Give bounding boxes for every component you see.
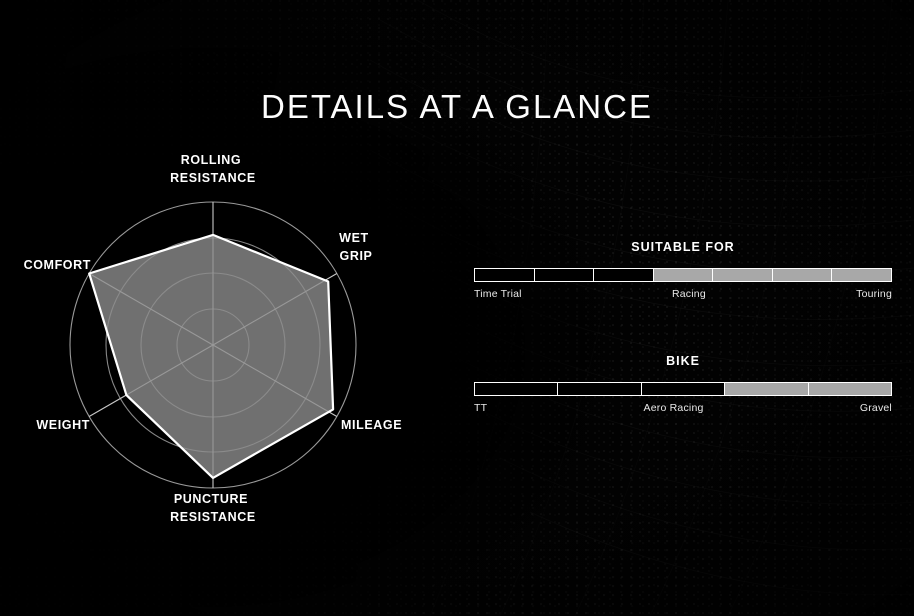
bike-segment: [725, 383, 808, 395]
radar-axis-label-weight: WEIGHT: [36, 418, 90, 432]
bike-segment: [475, 383, 558, 395]
bike-label-right: Gravel: [860, 402, 892, 414]
suitable-for-segment: [713, 269, 773, 281]
suitable-for-segment: [654, 269, 714, 281]
page-title: DETAILS AT A GLANCE: [0, 88, 914, 126]
bike-labels: TT Aero Racing Gravel: [474, 402, 892, 414]
bike-bar: [474, 382, 892, 396]
suitable-for-title: SUITABLE FOR: [474, 240, 892, 254]
bike-label-mid: Aero Racing: [644, 402, 704, 414]
radar-axis-label-comfort: COMFORT: [24, 258, 91, 272]
details-at-a-glance-panel: DETAILS AT A GLANCE: [0, 0, 914, 616]
suitable-for-segment: [535, 269, 595, 281]
radar-axis-label-wet-grip: WET GRIP: [339, 231, 373, 263]
suitable-for-segment: [594, 269, 654, 281]
radar-chart: ROLLING RESISTANCE WET GRIP MILEAGE PUNC…: [0, 132, 430, 542]
suitable-for-labels: Time Trial Racing Touring: [474, 288, 892, 300]
suitable-for-label-right: Touring: [856, 288, 892, 300]
suitable-for-segment: [832, 269, 891, 281]
suitable-for-segment: [773, 269, 833, 281]
suitable-for-label-left: Time Trial: [474, 288, 522, 300]
suitable-for-scale: SUITABLE FOR Time Trial Racing Touring: [474, 240, 892, 300]
suitable-for-segment: [475, 269, 535, 281]
suitable-for-bar: [474, 268, 892, 282]
bike-title: BIKE: [474, 354, 892, 368]
radar-axis-label-mileage: MILEAGE: [341, 418, 402, 432]
radar-series-polygon: [89, 235, 333, 478]
bike-segment: [642, 383, 725, 395]
bike-segment: [558, 383, 641, 395]
radar-axis-label-puncture-resistance: PUNCTURE RESISTANCE: [170, 492, 256, 524]
bike-label-left: TT: [474, 402, 487, 414]
suitable-for-label-mid: Racing: [672, 288, 706, 300]
bike-scale: BIKE TT Aero Racing Gravel: [474, 354, 892, 414]
bike-segment: [809, 383, 891, 395]
radar-axis-label-rolling-resistance: ROLLING RESISTANCE: [170, 153, 256, 185]
